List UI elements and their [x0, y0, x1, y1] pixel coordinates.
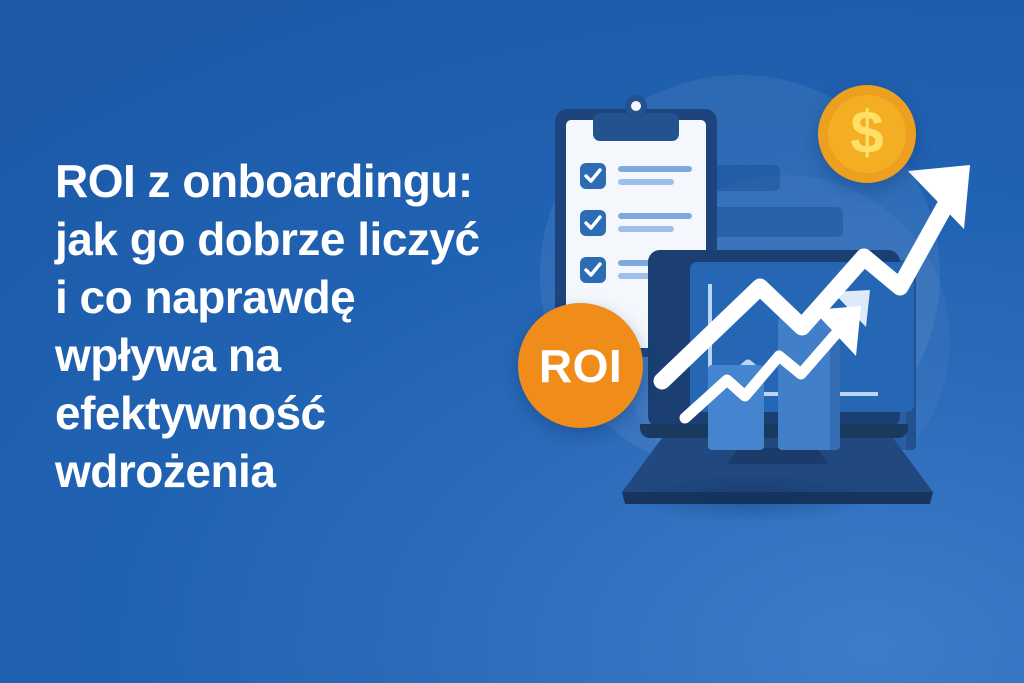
checkbox-checked-icon — [580, 210, 606, 236]
hero-illustration: ROI $ — [500, 55, 1000, 555]
page-title: ROI z onboardingu: jak go dobrze liczyć … — [55, 152, 555, 500]
laptop-shadow — [595, 463, 940, 533]
checkbox-checked-icon — [580, 163, 606, 189]
checkbox-checked-icon — [580, 257, 606, 283]
roi-badge: ROI — [518, 303, 643, 428]
dollar-coin-face: $ — [828, 95, 906, 173]
dollar-coin-icon: $ — [818, 85, 916, 183]
clipboard-ring — [625, 95, 647, 117]
check-icon — [584, 262, 602, 278]
banner: ROI z onboardingu: jak go dobrze liczyć … — [0, 0, 1024, 683]
dollar-sign-icon: $ — [850, 103, 883, 163]
check-icon — [584, 168, 602, 184]
large-growth-arrow-icon — [650, 135, 980, 395]
roi-badge-label: ROI — [539, 343, 622, 389]
check-icon — [584, 215, 602, 231]
